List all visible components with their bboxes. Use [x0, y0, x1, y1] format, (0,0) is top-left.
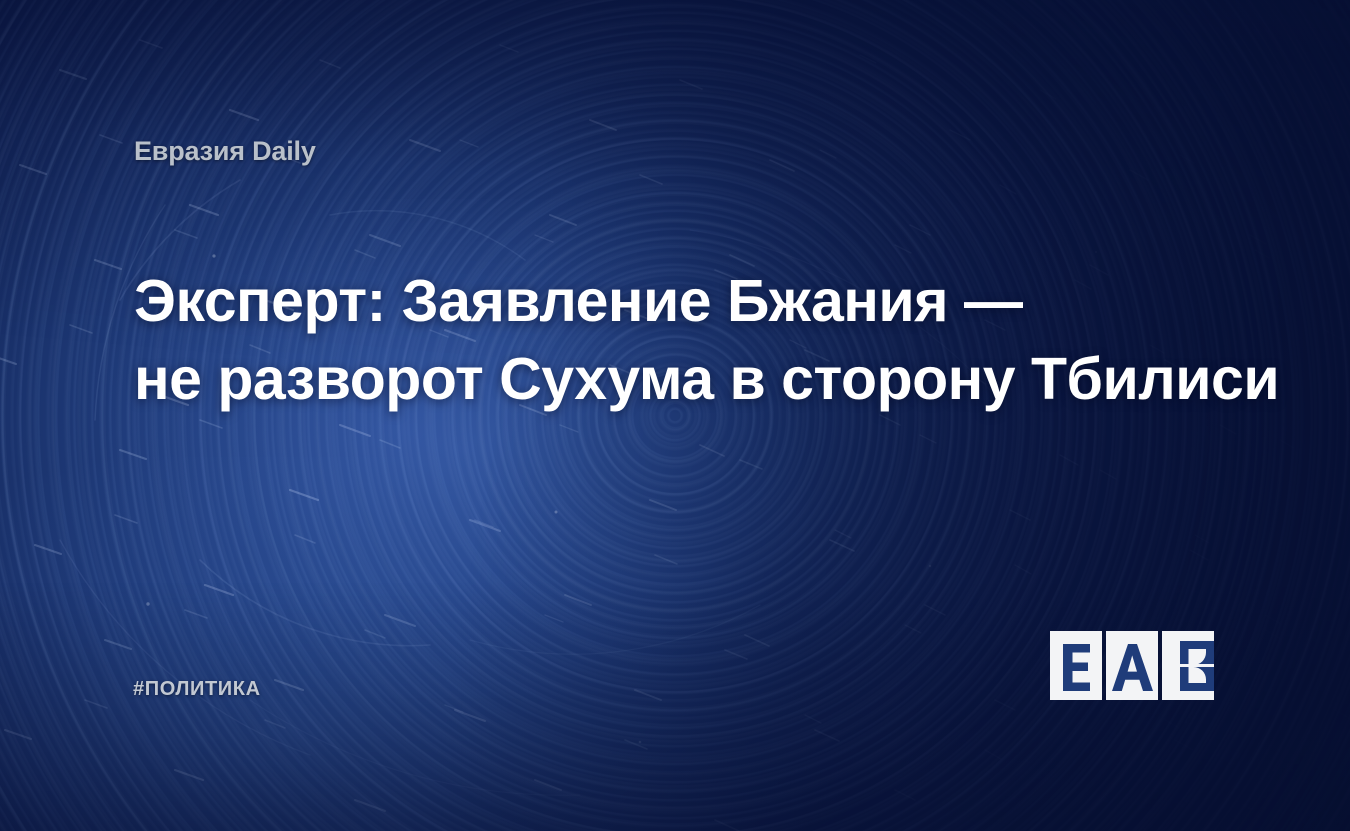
- page-title: Эксперт: Заявление Бжания — не разворот …: [134, 262, 1224, 418]
- card-content: Евразия Daily Эксперт: Заявление Бжания …: [0, 0, 1350, 831]
- letter-a-icon: [1106, 631, 1158, 700]
- logo-tile-d: [1162, 631, 1214, 700]
- brand-name: Евразия Daily: [134, 136, 316, 167]
- headline-line-2: не разворот Сухума в сторону Тбилиси: [134, 340, 1224, 418]
- letter-e-icon: [1050, 631, 1102, 700]
- logo-tile-e: [1050, 631, 1102, 700]
- letter-d-icon: [1162, 631, 1214, 700]
- news-share-card: Евразия Daily Эксперт: Заявление Бжания …: [0, 0, 1350, 831]
- category-tag: #ПОЛИТИКА: [133, 678, 261, 701]
- eadaily-logo[interactable]: [1050, 631, 1214, 700]
- logo-tile-a: [1106, 631, 1158, 700]
- headline-line-1: Эксперт: Заявление Бжания —: [134, 262, 1224, 340]
